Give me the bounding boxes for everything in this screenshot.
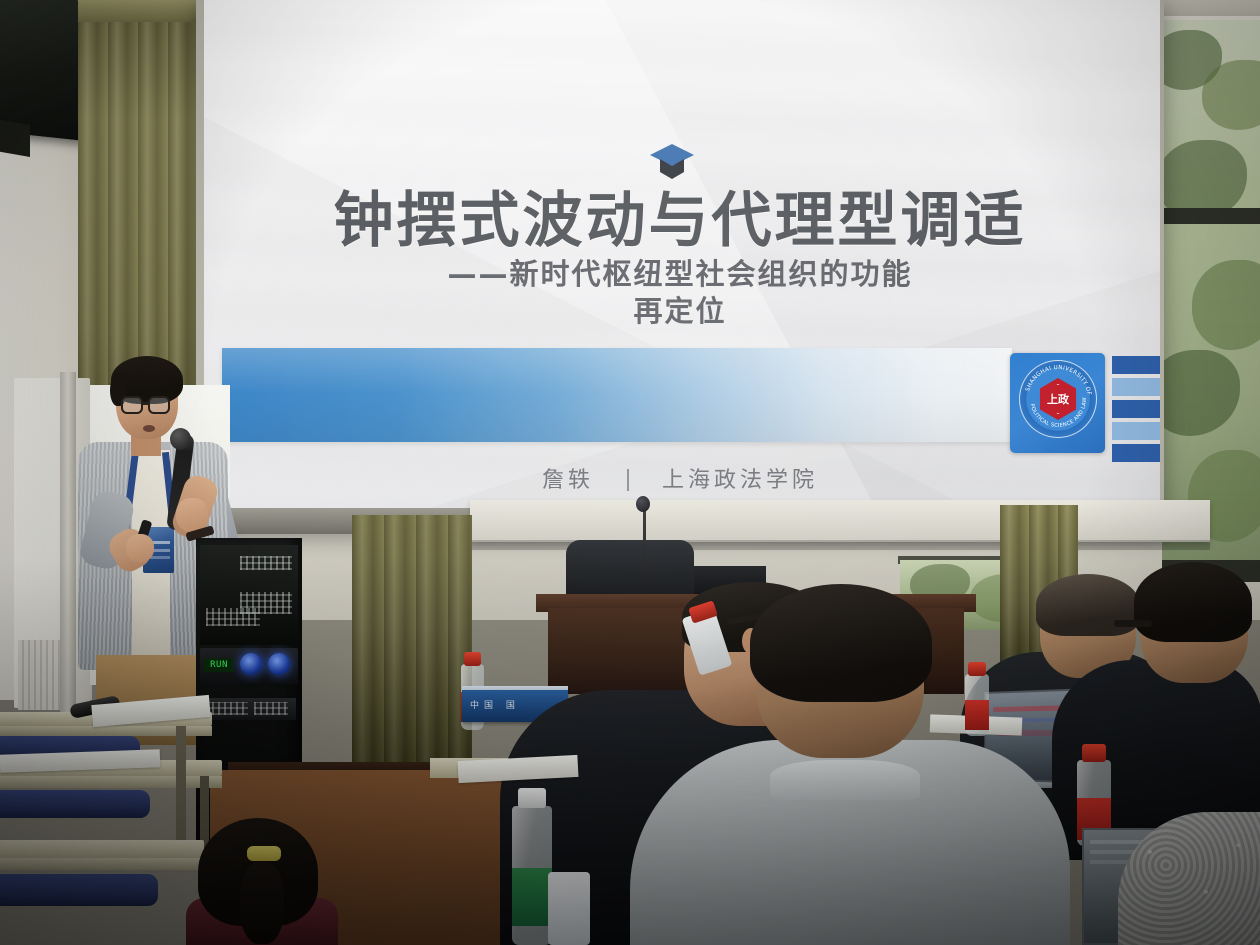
slide-accent-bar bbox=[222, 348, 1012, 442]
audience-man-hoodie-eyeglasses bbox=[1114, 620, 1152, 627]
foreground-man-hair bbox=[750, 584, 932, 702]
slide-stripe-3 bbox=[1112, 400, 1160, 418]
foreground-man-collar bbox=[770, 760, 920, 800]
handheld-microphone-head bbox=[170, 428, 191, 450]
gooseneck-microphone-head bbox=[636, 496, 650, 512]
presenter-mouth bbox=[143, 425, 155, 432]
desk-edge-3 bbox=[0, 858, 204, 870]
air-conditioner-vents bbox=[18, 640, 64, 710]
student-desk-row-3 bbox=[0, 840, 204, 858]
lectern-chair bbox=[566, 540, 694, 602]
water-bottle-4-cap bbox=[1082, 744, 1106, 762]
slide-stripe-decoration bbox=[1112, 356, 1160, 464]
slide-stripe-1 bbox=[1112, 356, 1160, 374]
chair-row-2 bbox=[0, 790, 150, 818]
desk-leg-1 bbox=[176, 726, 186, 846]
rack-volume-knob-2[interactable] bbox=[268, 653, 290, 675]
water-bottle-3-label bbox=[965, 700, 989, 730]
rack-patch-ports bbox=[206, 702, 248, 715]
slide-stripe-2 bbox=[1112, 378, 1160, 396]
monitor-bracket bbox=[0, 119, 30, 157]
audience-woman-ponytail bbox=[240, 862, 284, 944]
gooseneck-microphone-stem bbox=[643, 505, 646, 587]
slide-title: 钟摆式波动与代理型调适 bbox=[300, 172, 1060, 259]
chair-row-3 bbox=[0, 874, 158, 906]
ceiling-mounted-monitor bbox=[0, 0, 86, 141]
presenter-eyeglass-bridge bbox=[142, 402, 149, 405]
window-curtain-mid bbox=[352, 515, 472, 765]
water-bottle-2-cap bbox=[518, 788, 546, 808]
rack-vent-holes bbox=[240, 556, 292, 570]
curtain-rod bbox=[78, 0, 198, 22]
desk-edge-2 bbox=[0, 776, 222, 788]
slide-subtitle-line1: ——新时代枢纽型社会组织的功能 bbox=[300, 256, 1060, 293]
presenter-left-hand bbox=[126, 534, 154, 562]
slide-credit-line: 詹轶 上海政法学院 bbox=[300, 462, 1060, 494]
lecture-hall-photo: 钟摆式波动与代理型调适 ——新时代枢纽型社会组织的功能 再定位 SHANGHAI… bbox=[0, 0, 1260, 945]
water-bottle-3-cap bbox=[968, 662, 986, 676]
window-mullion bbox=[1162, 208, 1260, 224]
water-bottle-2-label bbox=[512, 868, 552, 926]
rack-status-display: RUN bbox=[204, 658, 234, 672]
slide-presenter-name: 詹轶 bbox=[542, 468, 594, 493]
slide-subtitle-line2: 再定位 bbox=[300, 293, 1060, 330]
hair-clip-icon bbox=[247, 846, 281, 861]
window-right bbox=[1162, 20, 1260, 580]
rack-patch-ports-2 bbox=[254, 702, 288, 715]
rack-vent-holes-3 bbox=[206, 608, 260, 626]
credit-divider bbox=[627, 469, 629, 491]
water-bottle-1-cap bbox=[464, 652, 481, 666]
rack-volume-knob-1[interactable] bbox=[240, 653, 262, 675]
wall-post bbox=[60, 372, 76, 712]
slide-stripe-5 bbox=[1112, 444, 1160, 462]
presenter-eyeglass-right bbox=[148, 396, 170, 414]
slide-subtitle: ——新时代枢纽型社会组织的功能 再定位 bbox=[300, 256, 1060, 330]
audience-man-hoodie-hair bbox=[1134, 562, 1252, 642]
slide-stripe-4 bbox=[1112, 422, 1160, 440]
wall-soffit bbox=[470, 500, 1210, 542]
slide-institution: 上海政法学院 bbox=[662, 468, 818, 493]
tissue-pack bbox=[548, 872, 590, 945]
presenter-eyeglass-left bbox=[121, 396, 143, 414]
